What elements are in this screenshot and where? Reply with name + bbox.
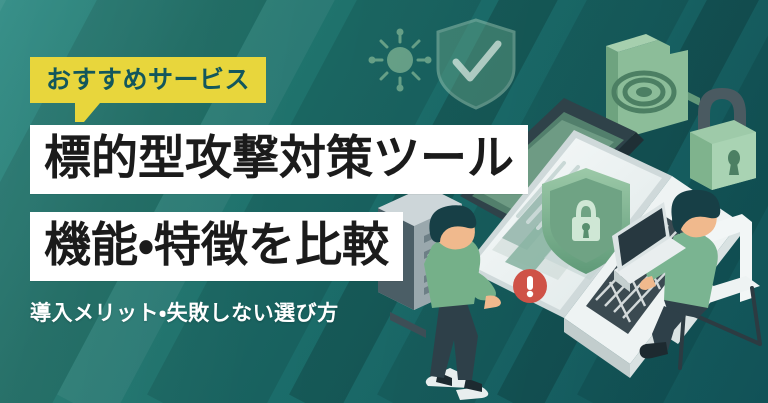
recommended-badge-label: おすすめサービス (30, 57, 266, 103)
recommended-badge: おすすめサービス (30, 57, 266, 103)
banner: おすすめサービス 標的型攻撃対策ツール 機能・特徴を比較 導入メリット・失敗しな… (0, 0, 768, 403)
folder-target-icon (606, 34, 700, 140)
page-title-line-2: 機能・特徴を比較 (30, 212, 403, 281)
page-title-line-1: 標的型攻撃対策ツール (30, 125, 528, 194)
page-subtitle: 導入メリット・失敗しない選び方 (30, 303, 339, 324)
padlock-icon (690, 88, 756, 190)
text-column: おすすめサービス 標的型攻撃対策ツール 機能・特徴を比較 導入メリット・失敗しな… (0, 0, 540, 403)
speech-bubble-tail-icon (75, 103, 100, 122)
